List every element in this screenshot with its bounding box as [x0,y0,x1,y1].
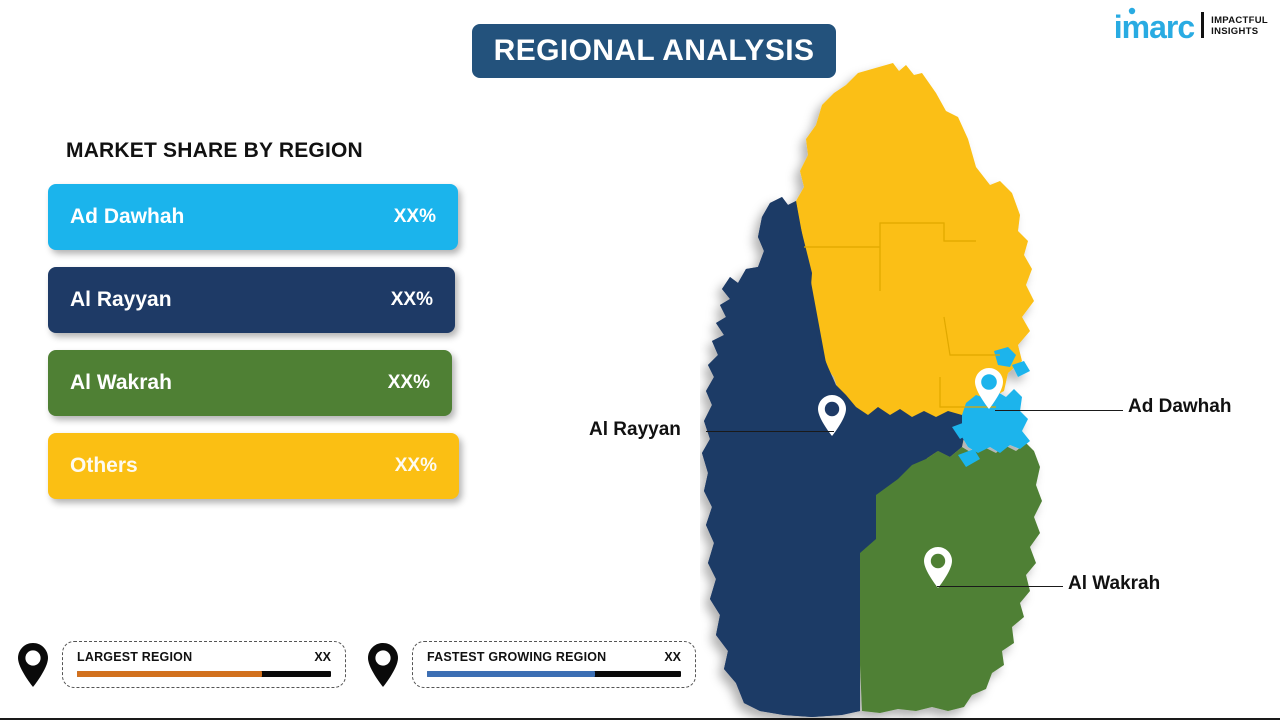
leader-line-ad-dawhah [995,410,1123,411]
bar-label: Al Rayyan [70,288,391,312]
bar-value: XX% [395,455,437,477]
legend-progress-fill [77,671,262,677]
logo-brand-text: imarc [1114,14,1194,41]
market-share-bar-others[interactable]: Others XX% [48,433,459,499]
legend-fastest-growing-region: FASTEST GROWING REGION XX [366,641,696,688]
legend-progress-fill [427,671,595,677]
map-callout-al-rayyan: Al Rayyan [589,419,681,441]
market-share-bar-al-rayyan[interactable]: Al Rayyan XX% [48,267,455,333]
bar-label: Others [70,454,395,478]
bar-value: XX% [388,372,430,394]
bar-value: XX% [391,289,433,311]
map-pin-icon [16,642,50,688]
bar-label: Ad Dawhah [70,205,394,229]
legend-progress-track [427,671,681,677]
legend-largest-region: LARGEST REGION XX [16,641,346,688]
leader-line-al-rayyan [706,431,834,432]
map-callout-ad-dawhah: Ad Dawhah [1128,396,1231,418]
logo-tagline: IMPACTFUL INSIGHTS [1211,16,1268,38]
legend-label: LARGEST REGION [77,650,192,664]
legend-box: LARGEST REGION XX [62,641,346,688]
legend-label: FASTEST GROWING REGION [427,650,606,664]
logo-tagline-line2: INSIGHTS [1211,27,1268,38]
market-share-bar-list: Ad Dawhah XX% Al Rayyan XX% Al Wakrah XX… [48,184,468,516]
imarc-logo: imarc IMPACTFUL INSIGHTS [1114,12,1268,41]
bar-value: XX% [394,206,436,228]
logo-divider [1201,12,1204,38]
legend-box: FASTEST GROWING REGION XX [412,641,696,688]
map-callout-al-wakrah: Al Wakrah [1068,573,1160,595]
qatar-regional-map [700,55,1080,720]
leader-line-al-wakrah [937,586,1063,587]
legend-value: XX [314,650,331,664]
legend-progress-track [77,671,331,677]
bar-label: Al Wakrah [70,371,388,395]
market-share-bar-al-wakrah[interactable]: Al Wakrah XX% [48,350,452,416]
legend-value: XX [664,650,681,664]
market-share-heading: MARKET SHARE BY REGION [66,139,363,163]
market-share-bar-ad-dawhah[interactable]: Ad Dawhah XX% [48,184,458,250]
map-pin-icon [366,642,400,688]
